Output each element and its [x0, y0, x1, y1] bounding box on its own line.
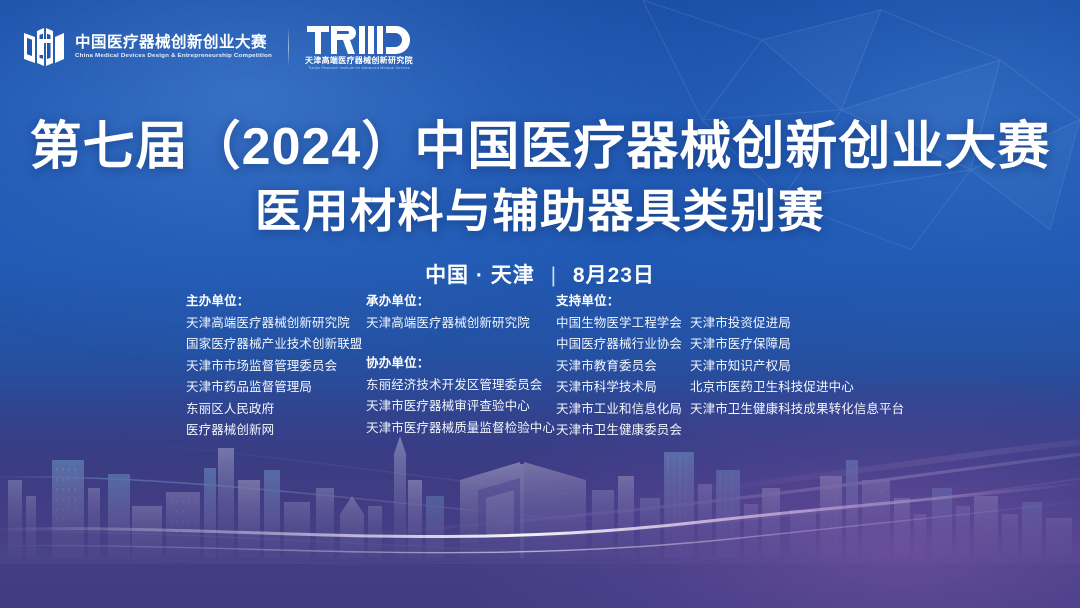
supporter-item: 中国生物医学工程学会 [556, 313, 690, 335]
open-door-window-icon [22, 25, 66, 69]
competition-logo-en: China Medical Devices Design & Entrepren… [75, 53, 272, 59]
triid-wordmark-icon [307, 24, 411, 56]
host-item: 天津市市场监督管理委员会 [186, 356, 366, 378]
triid-logo-en: Tianjin Research Institute for Advanced … [308, 67, 410, 71]
coorganizer-label: 协办单位： [366, 353, 556, 375]
logo-bar: 中国医疗器械创新创业大赛 China Medical Devices Desig… [22, 24, 413, 71]
supporter-item: 天津市卫生健康委员会 [556, 420, 690, 442]
organizer-label: 承办单位： [366, 291, 556, 313]
triid-logo-cn: 天津高端医疗器械创新研究院 [305, 57, 413, 66]
event-location: 中国 · 天津 [425, 264, 535, 287]
supporter-item: 天津市科学技术局 [556, 377, 690, 399]
title-block: 第七届（2024）中国医疗器械创新创业大赛 医用材料与辅助器具类别赛 中国 · … [0, 118, 1080, 289]
supporter-subcolumn-left: 中国生物医学工程学会 中国医疗器械行业协会 天津市教育委员会 天津市科学技术局 … [556, 313, 690, 442]
supporter-column: 支持单位： 中国生物医学工程学会 中国医疗器械行业协会 天津市教育委员会 天津市… [556, 291, 904, 442]
coorganizer-item: 东丽经济技术开发区管理委员会 [366, 375, 556, 397]
supporter-item: 北京市医药卫生科技促进中心 [690, 377, 904, 399]
host-item: 东丽区人民政府 [186, 399, 366, 421]
organizations-block: 主办单位： 天津高端医疗器械创新研究院 国家医疗器械产业技术创新联盟 天津市市场… [186, 291, 904, 442]
main-title-line1: 第七届（2024）中国医疗器械创新创业大赛 [0, 118, 1080, 176]
supporter-item: 中国医疗器械行业协会 [556, 334, 690, 356]
supporter-subcolumn-right: 天津市投资促进局 天津市医疗保障局 天津市知识产权局 北京市医药卫生科技促进中心… [690, 313, 904, 442]
poster-canvas: 中国医疗器械创新创业大赛 China Medical Devices Desig… [0, 0, 1080, 608]
host-item: 医疗器械创新网 [186, 420, 366, 442]
organizer-column: 承办单位： 天津高端医疗器械创新研究院 协办单位： 东丽经济技术开发区管理委员会… [366, 291, 556, 439]
host-label: 主办单位： [186, 291, 366, 313]
supporter-item: 天津市工业和信息化局 [556, 399, 690, 421]
coorganizer-item: 天津市医疗器械审评查验中心 [366, 396, 556, 418]
host-item: 天津市药品监督管理局 [186, 377, 366, 399]
main-title-line2: 医用材料与辅助器具类别赛 [0, 184, 1080, 239]
column-spacer [366, 334, 556, 353]
supporter-grid: 中国生物医学工程学会 中国医疗器械行业协会 天津市教育委员会 天津市科学技术局 … [556, 313, 904, 442]
event-datetime: 中国 · 天津 | 8月23日 [0, 259, 1080, 289]
coorganizer-item: 天津市医疗器械质量监督检验中心 [366, 418, 556, 440]
host-item: 国家医疗器械产业技术创新联盟 [186, 334, 366, 356]
supporter-item: 天津市知识产权局 [690, 356, 904, 378]
supporter-item: 天津市医疗保障局 [690, 334, 904, 356]
supporter-item: 天津市教育委员会 [556, 356, 690, 378]
logo-divider [288, 27, 289, 67]
competition-logo-cn: 中国医疗器械创新创业大赛 [75, 35, 272, 51]
supporter-item: 天津市投资促进局 [690, 313, 904, 335]
host-item: 天津高端医疗器械创新研究院 [186, 313, 366, 335]
event-separator: | [551, 264, 557, 288]
competition-logo: 中国医疗器械创新创业大赛 China Medical Devices Desig… [22, 25, 272, 69]
organizer-item: 天津高端医疗器械创新研究院 [366, 313, 556, 335]
supporter-label: 支持单位： [556, 291, 904, 313]
triid-logo: 天津高端医疗器械创新研究院 Tianjin Research Institute… [305, 24, 413, 71]
event-date: 8月23日 [573, 264, 655, 287]
host-column: 主办单位： 天津高端医疗器械创新研究院 国家医疗器械产业技术创新联盟 天津市市场… [186, 291, 366, 442]
supporter-item: 天津市卫生健康科技成果转化信息平台 [690, 399, 904, 421]
competition-logo-text: 中国医疗器械创新创业大赛 China Medical Devices Desig… [75, 35, 272, 60]
